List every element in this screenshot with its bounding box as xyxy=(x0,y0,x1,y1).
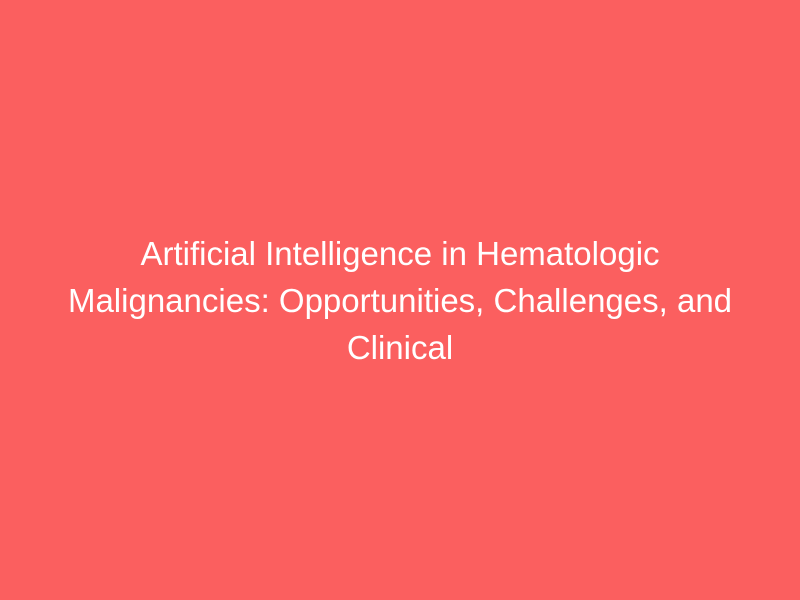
title-card: Artificial Intelligence in Hematologic M… xyxy=(0,0,800,600)
page-title: Artificial Intelligence in Hematologic M… xyxy=(60,230,740,371)
title-block: Artificial Intelligence in Hematologic M… xyxy=(60,230,740,371)
